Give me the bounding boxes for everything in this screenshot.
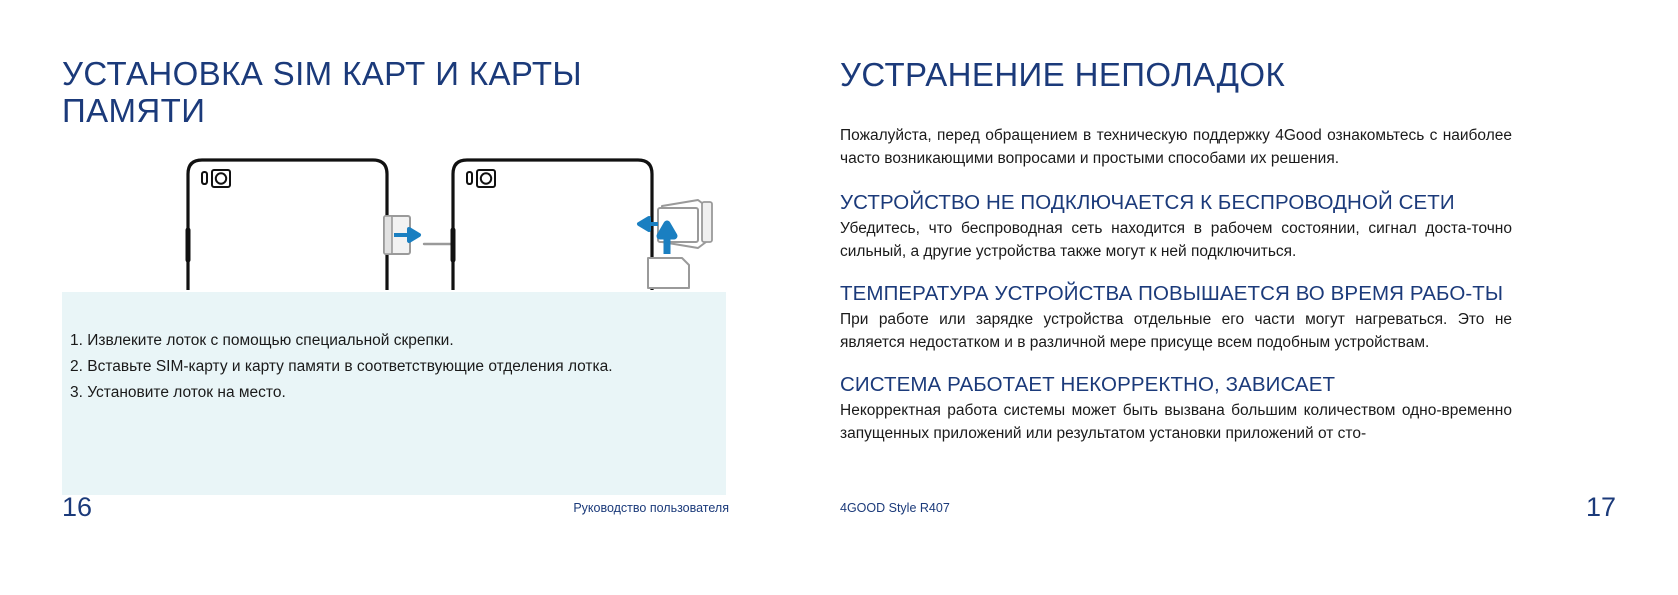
page-title-left: УСТАНОВКА SIM КАРТ И КАРТЫ ПАМЯТИ bbox=[62, 56, 702, 130]
blue-direction-arrow bbox=[660, 224, 674, 254]
footer-note-left: Руководство пользователя bbox=[573, 501, 729, 515]
page-number-left: 16 bbox=[62, 492, 92, 523]
instruction-step: 2. Вставьте SIM-карту и карту памяти в с… bbox=[70, 354, 716, 380]
page-number-right: 17 bbox=[1586, 492, 1616, 523]
section-body: Убедитесь, что беспроводная сеть находит… bbox=[840, 217, 1512, 263]
section-heading: УСТРОЙСТВО НЕ ПОДКЛЮЧАЕТСЯ К БЕСПРОВОДНО… bbox=[840, 192, 1512, 214]
section-heading: ТЕМПЕРАТУРА УСТРОЙСТВА ПОВЫШАЕТСЯ ВО ВРЕ… bbox=[840, 283, 1512, 305]
troubleshooting-intro: Пожалуйста, перед обращением в техническ… bbox=[840, 124, 1512, 170]
section-body: При работе или зарядке устройства отдель… bbox=[840, 308, 1512, 354]
earpiece-speaker bbox=[467, 172, 472, 184]
earpiece-speaker bbox=[202, 172, 207, 184]
footer-note-right: 4GOOD Style R407 bbox=[840, 501, 950, 515]
page-left: УСТАНОВКА SIM КАРТ И КАРТЫ ПАМЯТИ bbox=[0, 0, 839, 595]
troubleshooting-content: Пожалуйста, перед обращением в техническ… bbox=[840, 124, 1512, 445]
section-body: Некорректная работа системы может быть в… bbox=[840, 399, 1512, 445]
sim-tray-installation-diagram bbox=[62, 150, 726, 290]
troubleshooting-section: ТЕМПЕРАТУРА УСТРОЙСТВА ПОВЫШАЕТСЯ ВО ВРЕ… bbox=[840, 283, 1512, 354]
page-title-right: УСТРАНЕНИЕ НЕПОЛАДОК bbox=[840, 57, 1540, 94]
instruction-step: 3. Установите лоток на место. bbox=[70, 380, 716, 406]
troubleshooting-section: УСТРОЙСТВО НЕ ПОДКЛЮЧАЕТСЯ К БЕСПРОВОДНО… bbox=[840, 192, 1512, 263]
instructions-panel: 1. Извлеките лоток с помощью специальной… bbox=[62, 292, 726, 495]
phone-outline-with-tray-ejection bbox=[188, 160, 496, 290]
phone-outline-with-tray-insertion bbox=[453, 160, 712, 290]
section-heading: СИСТЕМА РАБОТАЕТ НЕКОРРЕКТНО, ЗАВИСАЕТ bbox=[840, 374, 1512, 396]
troubleshooting-section: СИСТЕМА РАБОТАЕТ НЕКОРРЕКТНО, ЗАВИСАЕТ Н… bbox=[840, 374, 1512, 445]
sim-card bbox=[648, 258, 689, 288]
instructions-list: 1. Извлеките лоток с помощью специальной… bbox=[70, 328, 716, 406]
instruction-step: 1. Извлеките лоток с помощью специальной… bbox=[70, 328, 716, 354]
